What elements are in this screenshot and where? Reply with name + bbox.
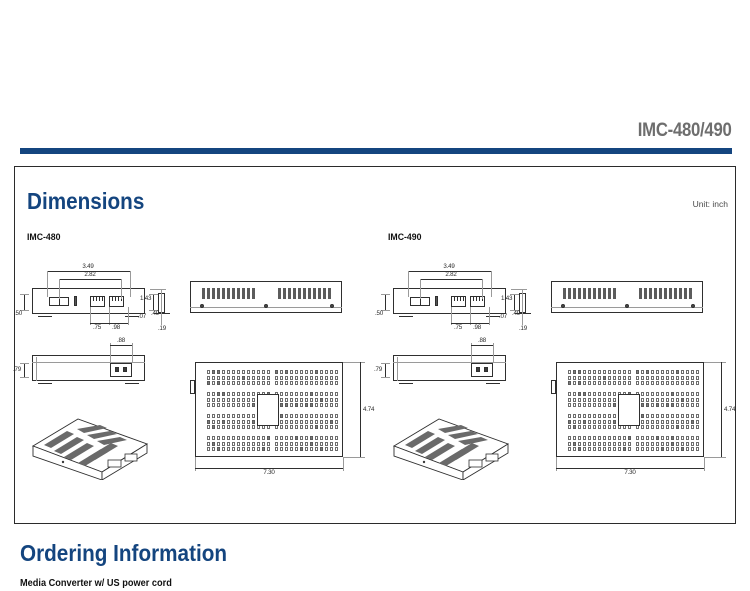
vent-hole: [608, 376, 611, 380]
vent-hole: [295, 398, 298, 402]
vent-hole: [237, 420, 240, 424]
vent-hole: [207, 392, 210, 396]
imc480-rear-foot-right: [125, 383, 139, 384]
imc490-isometric-view: [391, 410, 511, 480]
vent-hole: [661, 420, 664, 424]
imc480-side-louver: [217, 288, 220, 299]
vent-hole: [335, 436, 338, 440]
imc480-dim-rear-height: .79: [13, 366, 21, 373]
vent-hole: [628, 381, 631, 385]
vent-hole: [252, 370, 255, 374]
vent-hole: [257, 370, 260, 374]
imc490-dim-088-ext-r: [493, 343, 494, 363]
vent-hole: [217, 392, 220, 396]
vent-hole: [330, 403, 333, 407]
imc490-side-louver: [679, 288, 682, 299]
vent-hole: [232, 392, 235, 396]
imc490-side-louver: [644, 288, 647, 299]
vent-hole: [661, 425, 664, 429]
imc490-rear-ac-socket: [471, 363, 493, 377]
vent-hole: [681, 420, 684, 424]
imc490-side-louver: [613, 288, 616, 299]
vent-hole: [325, 414, 328, 418]
vent-hole: [568, 403, 571, 407]
imc490-dim-050-tick-t: [381, 294, 390, 295]
vent-hole: [207, 381, 210, 385]
vent-hole: [315, 414, 318, 418]
imc490-dim-049-line: [514, 294, 515, 310]
vent-hole: [583, 403, 586, 407]
vent-hole: [252, 420, 255, 424]
vent-hole: [676, 381, 679, 385]
vent-hole: [252, 376, 255, 380]
imc490-side-louver: [689, 288, 692, 299]
vent-hole: [681, 376, 684, 380]
vent-hole: [310, 425, 313, 429]
vent-hole: [671, 414, 674, 418]
vent-hole: [242, 376, 245, 380]
vent-hole: [636, 381, 639, 385]
imc490-dim-474-line: [721, 362, 722, 457]
vent-hole: [280, 436, 283, 440]
vent-hole: [257, 376, 260, 380]
vent-hole: [285, 436, 288, 440]
vent-hole: [212, 392, 215, 396]
vent-hole: [661, 398, 664, 402]
vent-hole: [676, 398, 679, 402]
vent-hole: [696, 392, 699, 396]
vent-hole: [320, 403, 323, 407]
header-rule: [20, 148, 732, 154]
vent-hole: [207, 420, 210, 424]
vent-hole: [681, 447, 684, 451]
vent-hole: [666, 376, 669, 380]
vent-hole: [237, 398, 240, 402]
vent-hole: [691, 420, 694, 424]
imc490-side-louver: [664, 288, 667, 299]
vent-hole: [583, 447, 586, 451]
vent-hole: [691, 436, 694, 440]
vent-hole: [608, 370, 611, 374]
vent-hole: [207, 370, 210, 374]
vent-hole: [598, 381, 601, 385]
imc480-dim-port-right: .98: [112, 324, 120, 331]
vent-hole: [603, 376, 606, 380]
vent-hole: [262, 370, 265, 374]
vent-hole: [578, 376, 581, 380]
vent-hole: [666, 442, 669, 446]
vent-hole: [656, 403, 659, 407]
vent-hole: [290, 403, 293, 407]
vent-hole: [613, 414, 616, 418]
vent-hole: [671, 420, 674, 424]
vent-hole: [568, 420, 571, 424]
vent-hole: [646, 403, 649, 407]
vent-hole: [583, 381, 586, 385]
imc490-side-louver: [674, 288, 677, 299]
vent-hole: [305, 420, 308, 424]
vent-hole: [578, 442, 581, 446]
vent-hole: [330, 436, 333, 440]
vent-hole: [335, 370, 338, 374]
vent-hole: [305, 442, 308, 446]
vent-hole: [335, 403, 338, 407]
vent-hole: [608, 398, 611, 402]
vent-hole: [676, 392, 679, 396]
vent-hole: [603, 420, 606, 424]
imc480-dim-049-line: [153, 294, 154, 310]
vent-hole: [222, 381, 225, 385]
imc490-side-profile-base: [515, 313, 531, 314]
vent-hole: [217, 420, 220, 424]
vent-hole: [247, 398, 250, 402]
imc480-side-louver: [283, 288, 286, 299]
vent-hole: [242, 392, 245, 396]
imc490-rear-socket-pin-r: [484, 367, 488, 372]
vent-hole: [232, 403, 235, 407]
vent-hole: [257, 442, 260, 446]
vent-hole: [656, 392, 659, 396]
vent-hole: [666, 381, 669, 385]
vent-hole: [242, 370, 245, 374]
vent-hole: [603, 436, 606, 440]
model-label-imc490: IMC-490: [388, 232, 422, 243]
vent-hole: [300, 381, 303, 385]
vent-hole: [295, 447, 298, 451]
imc480-rear-socket-pin-l: [115, 367, 119, 372]
vent-hole: [696, 376, 699, 380]
vent-hole: [242, 442, 245, 446]
vent-hole: [290, 447, 293, 451]
vent-hole: [671, 370, 674, 374]
vent-hole: [691, 398, 694, 402]
imc480-isometric-view: [30, 410, 150, 480]
vent-hole: [310, 420, 313, 424]
vent-hole: [217, 414, 220, 418]
vent-hole: [636, 370, 639, 374]
vent-hole: [295, 425, 298, 429]
vent-hole: [646, 414, 649, 418]
imc490-side-louver: [649, 288, 652, 299]
imc490-rear-side-edge: [397, 357, 398, 381]
vent-hole: [691, 376, 694, 380]
vent-hole: [636, 442, 639, 446]
vent-hole: [280, 403, 283, 407]
vent-hole: [608, 436, 611, 440]
vent-hole: [608, 392, 611, 396]
imc490-dim-side-height: 1.43: [501, 295, 512, 302]
imc480-side-louver: [227, 288, 230, 299]
vent-hole: [280, 414, 283, 418]
vent-hole: [691, 442, 694, 446]
vent-hole: [295, 376, 298, 380]
vent-hole: [578, 381, 581, 385]
vent-hole: [280, 381, 283, 385]
vent-hole: [315, 370, 318, 374]
vent-hole: [573, 447, 576, 451]
imc490-side-louver: [578, 288, 581, 299]
imc490-side-screw: [561, 304, 565, 308]
vent-hole: [300, 447, 303, 451]
vent-hole: [242, 403, 245, 407]
vent-hole: [588, 436, 591, 440]
vent-hole: [300, 436, 303, 440]
vent-hole: [568, 376, 571, 380]
imc480-side-top-ext: [150, 289, 166, 290]
vent-hole: [686, 414, 689, 418]
vent-hole: [651, 420, 654, 424]
vent-hole: [237, 376, 240, 380]
imc480-side-louver: [298, 288, 301, 299]
vent-hole: [207, 376, 210, 380]
imc480-side-screw: [330, 304, 334, 308]
vent-hole: [295, 403, 298, 407]
vent-hole: [285, 414, 288, 418]
vent-hole: [247, 414, 250, 418]
vent-hole: [290, 436, 293, 440]
vent-hole: [568, 392, 571, 396]
vent-hole: [641, 398, 644, 402]
vent-hole: [651, 376, 654, 380]
vent-hole: [285, 370, 288, 374]
vent-hole: [325, 370, 328, 374]
vent-hole: [217, 447, 220, 451]
imc480-dim-foot-height: .07: [138, 313, 146, 320]
imc490-side-louver: [593, 288, 596, 299]
vent-hole: [320, 370, 323, 374]
vent-hole: [242, 436, 245, 440]
vent-hole: [686, 392, 689, 396]
vent-hole: [568, 381, 571, 385]
vent-hole: [227, 398, 230, 402]
vent-hole: [212, 381, 215, 385]
vent-hole: [227, 436, 230, 440]
vent-hole: [603, 381, 606, 385]
vent-hole: [217, 436, 220, 440]
vent-hole: [232, 442, 235, 446]
vent-hole: [646, 447, 649, 451]
vent-hole: [247, 381, 250, 385]
vent-hole: [310, 447, 313, 451]
imc490-port-pin: [454, 296, 455, 301]
imc490-dim-foot-height: .07: [499, 313, 507, 320]
vent-hole: [686, 403, 689, 407]
vent-hole: [676, 442, 679, 446]
vent-hole: [330, 381, 333, 385]
vent-hole: [247, 420, 250, 424]
vent-hole: [315, 403, 318, 407]
vent-hole: [598, 403, 601, 407]
vent-hole: [227, 376, 230, 380]
vent-hole: [310, 442, 313, 446]
imc480-side-louver: [252, 288, 255, 299]
vent-hole: [207, 447, 210, 451]
vent-hole: [568, 442, 571, 446]
vent-hole: [598, 447, 601, 451]
imc480-dim-2820-ext-r: [121, 279, 122, 299]
imc480-side-louver: [212, 288, 215, 299]
vent-hole: [207, 442, 210, 446]
dimensions-heading: Dimensions: [27, 188, 144, 215]
vent-hole: [691, 370, 694, 374]
vent-hole: [686, 370, 689, 374]
vent-hole: [237, 447, 240, 451]
vent-hole: [237, 403, 240, 407]
vent-hole: [310, 436, 313, 440]
vent-hole: [280, 370, 283, 374]
vent-hole: [676, 370, 679, 374]
vent-hole: [651, 447, 654, 451]
vent-hole: [666, 414, 669, 418]
vent-hole: [275, 370, 278, 374]
vent-hole: [285, 447, 288, 451]
imc490-side-louver: [659, 288, 662, 299]
vent-hole: [613, 398, 616, 402]
vent-hole: [237, 381, 240, 385]
vent-hole: [305, 414, 308, 418]
imc490-side-louver: [639, 288, 642, 299]
vent-hole: [651, 370, 654, 374]
vent-hole: [242, 398, 245, 402]
vent-hole: [691, 425, 694, 429]
vent-hole: [325, 403, 328, 407]
vent-hole: [227, 403, 230, 407]
vent-hole: [671, 447, 674, 451]
vent-hole: [593, 381, 596, 385]
vent-hole: [573, 376, 576, 380]
vent-hole: [646, 420, 649, 424]
imc480-side-screw: [264, 304, 268, 308]
vent-hole: [247, 370, 250, 374]
vent-hole: [295, 442, 298, 446]
vent-hole: [641, 420, 644, 424]
imc480-port-pin: [118, 296, 119, 301]
imc490-side-louver: [684, 288, 687, 299]
imc480-side-louver: [242, 288, 245, 299]
imc490-dim-rear-height: .79: [374, 366, 382, 373]
vent-hole: [207, 425, 210, 429]
vent-hole: [207, 398, 210, 402]
vent-hole: [242, 420, 245, 424]
vent-hole: [325, 447, 328, 451]
imc480-dim-474-ext-t: [343, 362, 365, 363]
vent-hole: [262, 447, 265, 451]
vent-hole: [681, 436, 684, 440]
imc490-front-foot-left: [399, 316, 413, 317]
vent-hole: [636, 436, 639, 440]
vent-hole: [583, 414, 586, 418]
vent-hole: [310, 370, 313, 374]
vent-hole: [641, 425, 644, 429]
vent-hole: [295, 392, 298, 396]
vent-hole: [603, 447, 606, 451]
imc490-port-pin: [473, 296, 474, 301]
imc490-port-pin: [457, 296, 458, 301]
vent-hole: [681, 425, 684, 429]
vent-hole: [651, 403, 654, 407]
vent-hole: [568, 425, 571, 429]
vent-hole: [325, 376, 328, 380]
vent-hole: [227, 414, 230, 418]
imc480-front-led: [74, 296, 77, 306]
vent-hole: [666, 398, 669, 402]
vent-hole: [232, 370, 235, 374]
vent-hole: [330, 420, 333, 424]
vent-hole: [232, 381, 235, 385]
vent-hole: [623, 442, 626, 446]
imc480-dim-098-ext-r: [128, 307, 129, 325]
vent-hole: [212, 398, 215, 402]
imc490-dim-port-right: .98: [473, 324, 481, 331]
vent-hole: [330, 376, 333, 380]
vent-hole: [315, 381, 318, 385]
vent-hole: [588, 425, 591, 429]
vent-hole: [320, 376, 323, 380]
vent-hole: [300, 403, 303, 407]
vent-hole: [578, 447, 581, 451]
vent-hole: [325, 381, 328, 385]
vent-hole: [315, 392, 318, 396]
vent-hole: [578, 398, 581, 402]
vent-hole: [666, 425, 669, 429]
vent-hole: [320, 447, 323, 451]
vent-hole: [267, 436, 270, 440]
vent-hole: [237, 370, 240, 374]
imc490-dim-3490-ext-l: [408, 271, 409, 297]
vent-hole: [568, 414, 571, 418]
vent-hole: [588, 370, 591, 374]
vent-hole: [641, 370, 644, 374]
vent-hole: [661, 370, 664, 374]
imc490-side-louver: [568, 288, 571, 299]
vent-hole: [613, 447, 616, 451]
vent-hole: [335, 398, 338, 402]
vent-hole: [593, 370, 596, 374]
imc490-dim-088-line: [471, 345, 493, 346]
imc480-dim-079-line: [24, 363, 25, 377]
imc480-dim-2820-ext-l: [59, 279, 60, 299]
vent-hole: [232, 436, 235, 440]
vent-hole: [598, 420, 601, 424]
vent-hole: [217, 442, 220, 446]
vent-hole: [305, 370, 308, 374]
imc490-side-louver: [598, 288, 601, 299]
imc480-top-left-connector: [190, 380, 195, 394]
vent-hole: [686, 381, 689, 385]
vent-hole: [608, 414, 611, 418]
vent-hole: [242, 447, 245, 451]
vent-hole: [320, 425, 323, 429]
vent-hole: [285, 425, 288, 429]
vent-hole: [651, 381, 654, 385]
vent-hole: [237, 414, 240, 418]
vent-hole: [641, 392, 644, 396]
vent-hole: [641, 442, 644, 446]
vent-hole: [593, 376, 596, 380]
vent-hole: [295, 370, 298, 374]
vent-hole: [696, 447, 699, 451]
imc480-dim-730-ext-r: [343, 457, 344, 471]
vent-hole: [247, 447, 250, 451]
vent-hole: [320, 442, 323, 446]
vent-hole: [603, 425, 606, 429]
vent-hole: [330, 442, 333, 446]
imc480-dim-foot-width: .19: [158, 325, 166, 332]
vent-hole: [641, 376, 644, 380]
vent-hole: [573, 414, 576, 418]
vent-hole: [247, 442, 250, 446]
vent-hole: [628, 442, 631, 446]
